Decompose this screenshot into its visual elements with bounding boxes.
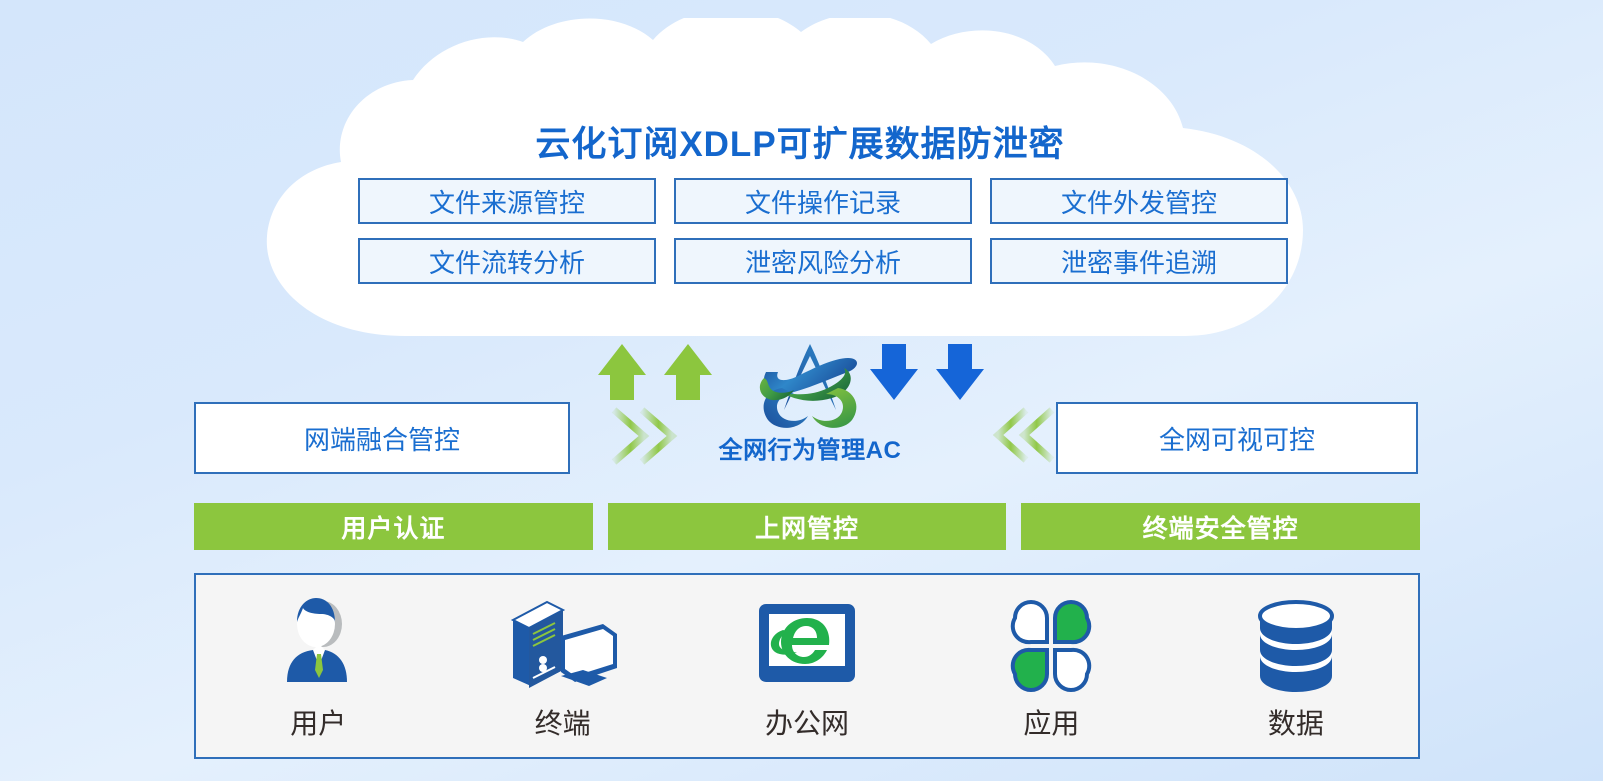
desktop-computer-icon [503,590,623,694]
core-product: 全网行为管理AC [690,338,930,465]
asset-item[interactable]: 数据 [1174,590,1418,742]
database-cylinder-icon [1246,590,1346,694]
asset-panel: 用户 [194,573,1420,759]
left-feature-box[interactable]: 网端融合管控 [194,402,570,474]
capability-box[interactable]: 文件操作记录 [674,178,972,224]
capability-bar[interactable]: 用户认证 [194,503,593,550]
double-chevron-left-icon [988,404,1060,466]
asset-item[interactable]: 应用 [929,590,1173,742]
capability-box[interactable]: 文件流转分析 [358,238,656,284]
left-feature-label: 网端融合管控 [304,420,460,457]
diagram-canvas: 云化订阅XDLP可扩展数据防泄密 文件来源管控 文件操作记录 文件外发管控 文件… [0,0,1603,781]
core-product-label: 全网行为管理AC [690,430,930,465]
asset-label: 用户 [290,702,346,742]
cloud-title: 云化订阅XDLP可扩展数据防泄密 [255,116,1345,167]
four-petal-application-icon [997,590,1105,694]
right-feature-box[interactable]: 全网可视可控 [1056,402,1418,474]
capability-box[interactable]: 泄密风险分析 [674,238,972,284]
capability-box[interactable]: 泄密事件追溯 [990,238,1288,284]
capability-bar-row: 用户认证 上网管控 终端安全管控 [194,503,1420,550]
capability-bar[interactable]: 终端安全管控 [1021,503,1420,550]
asset-item[interactable]: 终端 [440,590,684,742]
capability-row: 文件来源管控 文件操作记录 文件外发管控 [358,178,1288,224]
right-feature-label: 全网可视可控 [1159,420,1315,457]
cloud-container: 云化订阅XDLP可扩展数据防泄密 文件来源管控 文件操作记录 文件外发管控 文件… [255,18,1345,338]
asset-label: 终端 [535,702,591,742]
asset-label: 应用 [1023,702,1079,742]
asset-label: 数据 [1268,702,1324,742]
capability-grid: 文件来源管控 文件操作记录 文件外发管控 文件流转分析 泄密风险分析 泄密事件追… [358,178,1288,284]
double-chevron-right-icon [606,402,678,470]
user-person-icon [263,590,373,694]
asset-label: 办公网 [765,702,849,742]
ie-browser-icon [753,590,861,694]
capability-box[interactable]: 文件来源管控 [358,178,656,224]
asset-item[interactable]: 办公网 [685,590,929,742]
asset-item[interactable]: 用户 [196,590,440,742]
capability-bar[interactable]: 上网管控 [608,503,1007,550]
capability-row: 文件流转分析 泄密风险分析 泄密事件追溯 [358,238,1288,284]
sangfor-a-logo-icon [748,338,872,434]
capability-box[interactable]: 文件外发管控 [990,178,1288,224]
